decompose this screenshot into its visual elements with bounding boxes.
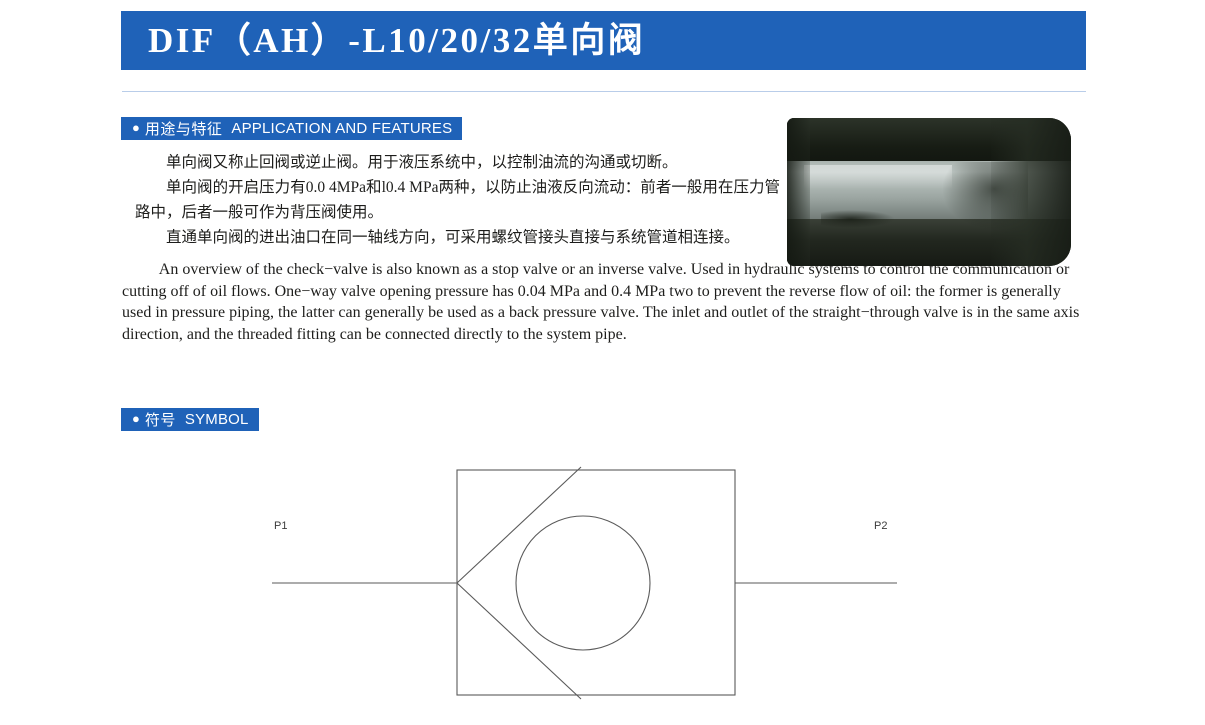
- symbol-enclosure-rect: [457, 470, 735, 695]
- port-label-p1: P1: [274, 520, 287, 532]
- section-header-symbol-label-en: SYMBOL: [185, 411, 249, 428]
- bullet-icon: ●: [132, 412, 140, 425]
- header-divider-rule: [122, 91, 1086, 92]
- symbol-ball-circle: [516, 516, 650, 650]
- page-title: DIF（AH）-L10/20/32单向阀: [148, 23, 645, 58]
- application-english-copy: An overview of the check−valve is also k…: [122, 259, 1087, 345]
- photo-specular-sheen: [804, 165, 952, 189]
- product-photo: [787, 118, 1071, 266]
- bullet-icon: ●: [132, 121, 140, 134]
- symbol-seat-line-upper: [457, 467, 581, 583]
- cn-paragraph-1: 单向阀又称止回阀或逆止阀。用于液压系统中，以控制油流的沟通或切断。: [135, 150, 780, 175]
- section-header-application-label-en: APPLICATION AND FEATURES: [231, 120, 452, 137]
- cn-paragraph-2: 单向阀的开启压力有0.0 4MPa和l0.4 MPa两种，以防止油液反向流动：前…: [135, 175, 780, 225]
- photo-right-cap-shadow: [991, 118, 1071, 266]
- photo-left-edge-shadow: [787, 118, 810, 266]
- en-paragraph-1: An overview of the check−valve is also k…: [122, 259, 1087, 345]
- check-valve-symbol-diagram: [0, 0, 1205, 725]
- port-label-p2: P2: [874, 520, 887, 532]
- section-header-application: ● 用途与特征 APPLICATION AND FEATURES: [121, 117, 462, 140]
- section-header-symbol-label-cn: 符号: [145, 409, 176, 430]
- cn-paragraph-3: 直通单向阀的进出油口在同一轴线方向，可采用螺纹管接头直接与系统管道相连接。: [135, 225, 780, 250]
- photo-surface-speck-a: [821, 210, 895, 228]
- section-header-application-label-cn: 用途与特征: [145, 118, 223, 139]
- section-header-symbol: ● 符号 SYMBOL: [121, 408, 259, 431]
- page-title-banner: DIF（AH）-L10/20/32单向阀: [121, 11, 1086, 70]
- symbol-seat-line-lower: [457, 583, 581, 699]
- application-chinese-copy: 单向阀又称止回阀或逆止阀。用于液压系统中，以控制油流的沟通或切断。 单向阀的开启…: [135, 150, 780, 250]
